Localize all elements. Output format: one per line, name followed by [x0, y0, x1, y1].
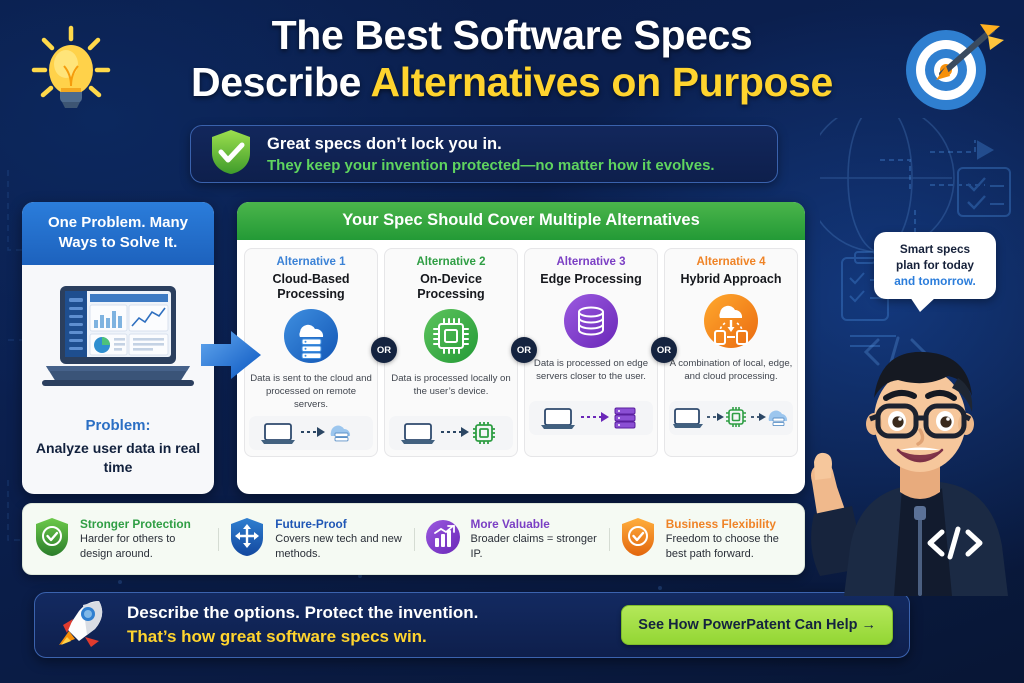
alternatives-panel: Your Spec Should Cover Multiple Alternat… — [237, 202, 805, 494]
alternative-description-4: A combination of local, edge, and cloud … — [669, 357, 793, 396]
subtitle-line-1: Great specs don’t lock you in. — [267, 133, 715, 155]
laptop-to-cloud-flow-icon — [249, 416, 373, 450]
benefit-title-2: Future-Proof — [275, 517, 403, 532]
problem-panel-heading: One Problem. Many Ways to Solve It. — [22, 202, 214, 265]
benefit-body-3: Broader claims = stronger IP. — [471, 532, 599, 561]
rocket-icon — [51, 595, 113, 656]
benefit-title-1: Stronger Protection — [80, 517, 208, 532]
cta-button[interactable]: See How PowerPatent Can Help → — [621, 605, 893, 645]
alternative-card-1[interactable]: Alternative 1 Cloud-Based Processing — [244, 248, 378, 457]
target-bullseye-icon — [896, 18, 1004, 119]
alternative-number-1: Alternative 1 — [249, 256, 373, 268]
laptop-to-server-flow-icon — [529, 401, 653, 435]
benefit-title-4: Business Flexibility — [666, 517, 794, 532]
shield-check-orange-icon — [619, 516, 657, 563]
alternative-number-4: Alternative 4 — [669, 256, 793, 268]
alternative-description-1: Data is sent to the cloud and processed … — [249, 372, 373, 411]
alternative-number-2: Alternative 2 — [389, 256, 513, 268]
title-line-2-plain: Describe — [191, 59, 370, 105]
cta-line-2: That’s how great software specs win. — [127, 625, 607, 649]
subtitle-banner: Great specs don’t lock you in. They keep… — [190, 125, 778, 183]
alternative-title-4: Hybrid Approach — [669, 272, 793, 287]
cta-bar: Describe the options. Protect the invent… — [34, 592, 910, 658]
title-line-1: The Best Software Specs — [0, 12, 1024, 59]
shield-check-icon — [209, 128, 253, 181]
alternative-card-3[interactable]: Alternative 3 Edge Processing Da — [524, 248, 658, 457]
problem-panel: One Problem. Many Ways to Solve It. — [22, 202, 214, 494]
title-line-2-accent: Alternatives on Purpose — [371, 59, 833, 105]
developer-character-icon — [806, 336, 1024, 601]
benefit-body-1: Harder for others to design around. — [80, 532, 208, 561]
bubble-line-1: Smart specs — [882, 241, 988, 257]
problem-label: Problem: — [28, 417, 208, 434]
title-line-2: Describe Alternatives on Purpose — [0, 59, 1024, 106]
alternative-number-3: Alternative 3 — [529, 256, 653, 268]
subtitle-line-2: They keep your invention protected—no ma… — [267, 155, 715, 176]
laptop-to-chip-flow-icon — [389, 416, 513, 450]
shield-check-green-icon — [33, 516, 71, 563]
alternative-description-3: Data is processed on edge servers closer… — [529, 357, 653, 396]
benefits-strip: Stronger Protection Harder for others to… — [22, 503, 805, 575]
benefit-body-4: Freedom to choose the best path forward. — [666, 532, 794, 561]
cta-line-1: Describe the options. Protect the invent… — [127, 601, 607, 625]
benefit-item-business-flexibility: Business Flexibility Freedom to choose t… — [609, 516, 804, 563]
benefit-title-3: More Valuable — [471, 517, 599, 532]
benefit-body-2: Covers new tech and new methods. — [275, 532, 403, 561]
page-title: The Best Software Specs Describe Alterna… — [0, 12, 1024, 106]
alternative-title-2: On-Device Processing — [389, 272, 513, 302]
laptop-dashboard-icon — [28, 273, 208, 405]
or-chip-3: OR — [651, 337, 677, 363]
hybrid-cloud-devices-icon — [669, 292, 793, 350]
speech-bubble: Smart specs plan for today and tomorrow. — [874, 232, 996, 299]
alternative-description-2: Data is processed locally on the user’s … — [389, 372, 513, 411]
problem-text: Analyze user data in real time — [28, 439, 208, 477]
benefit-item-more-valuable: More Valuable Broader claims = stronger … — [414, 516, 609, 563]
blue-right-arrow-icon — [199, 328, 263, 387]
cloud-server-icon — [249, 307, 373, 365]
bubble-line-2: plan for today — [882, 257, 988, 273]
growth-chart-circle-icon — [424, 516, 462, 563]
or-chip-2: OR — [511, 337, 537, 363]
four-way-arrows-shield-icon — [228, 516, 266, 563]
alternatives-list: Alternative 1 Cloud-Based Processing — [237, 240, 805, 465]
bubble-line-3: and tomorrow. — [882, 273, 988, 289]
database-stack-icon — [529, 292, 653, 350]
microchip-icon — [389, 307, 513, 365]
laptop-to-chip-to-cloud-flow-icon — [669, 401, 793, 435]
alternative-title-3: Edge Processing — [529, 272, 653, 287]
alternative-card-2[interactable]: Alternative 2 On-Device Processing — [384, 248, 518, 457]
benefit-item-stronger-protection: Stronger Protection Harder for others to… — [23, 516, 218, 563]
alternative-card-4[interactable]: Alternative 4 Hybrid Approach — [664, 248, 798, 457]
infographic-canvas: The Best Software Specs Describe Alterna… — [0, 0, 1024, 683]
alternatives-panel-heading: Your Spec Should Cover Multiple Alternat… — [237, 202, 805, 240]
lightbulb-icon — [28, 22, 114, 117]
benefit-item-future-proof: Future-Proof Covers new tech and new met… — [218, 516, 413, 563]
alternative-title-1: Cloud-Based Processing — [249, 272, 373, 302]
or-chip-1: OR — [371, 337, 397, 363]
